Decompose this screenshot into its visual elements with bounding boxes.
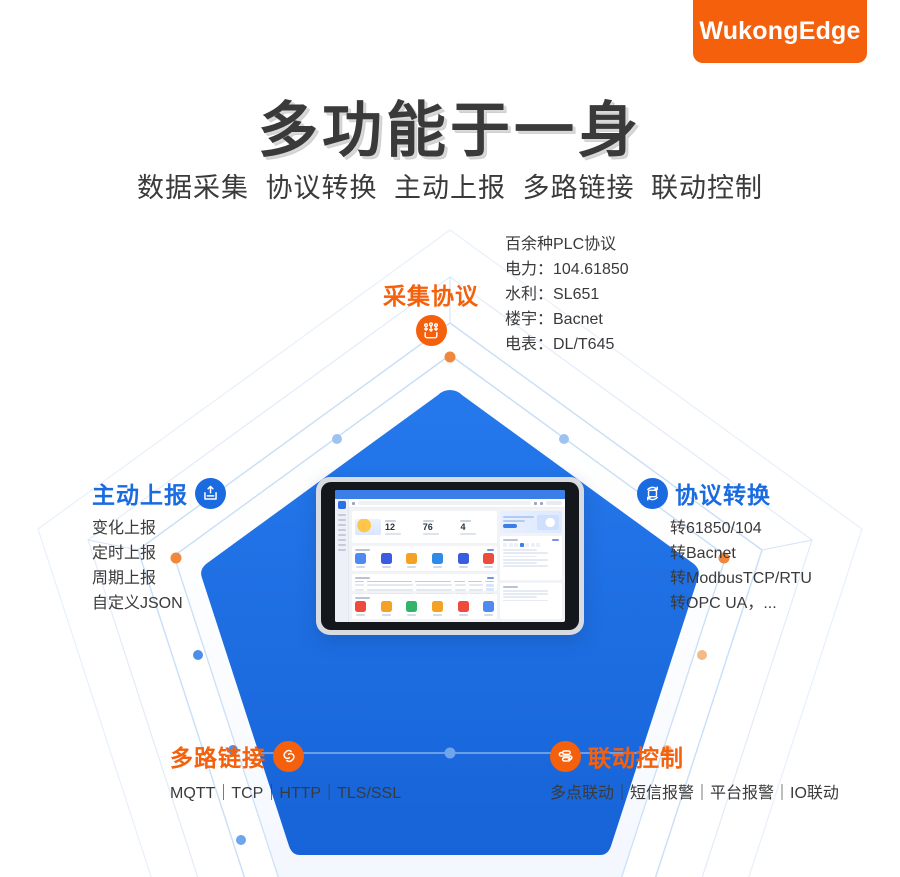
sidebar-item[interactable] [338, 549, 346, 551]
feature-collect-line-4: 电表：DL/T645 [505, 332, 629, 357]
kpi-item: 12 [385, 520, 419, 535]
shortcut-item[interactable] [458, 553, 469, 568]
shortcut-item[interactable] [483, 553, 494, 568]
feature-report-line-0: 变化上报 [92, 516, 226, 541]
shortcut-card [352, 546, 497, 571]
shortcut-item[interactable] [406, 553, 417, 568]
feature-multilink: 多路链接 MQTT｜TCP｜HTTP｜TLS/SSL [170, 739, 401, 803]
section-title [503, 586, 518, 588]
section-header [355, 549, 494, 551]
protocol-convert-icon [637, 478, 668, 509]
data-collect-icon [416, 315, 447, 346]
tool-item[interactable] [432, 601, 443, 616]
feature-collect: 采集协议 [383, 277, 479, 346]
screen-topbar [335, 490, 565, 499]
kpi-caption [460, 533, 476, 535]
dashboard-toolbar [349, 499, 565, 508]
calendar-day[interactable] [525, 543, 529, 547]
event-line [503, 565, 548, 567]
calendar-day[interactable] [531, 543, 535, 547]
promo-banner[interactable] [500, 511, 562, 533]
tablet-bezel: 12 76 [321, 482, 579, 630]
tool-label [459, 614, 468, 616]
column-header [367, 581, 412, 583]
notice-line [503, 593, 548, 595]
row-action[interactable] [486, 584, 494, 587]
event-line [503, 552, 548, 554]
dashboard-left-column: 12 76 [352, 511, 497, 619]
feature-report: 主动上报 变化上报 定时上报 周期上报 自定义JSON [92, 476, 226, 616]
column-header [485, 581, 494, 583]
tool-label [484, 614, 493, 616]
section-title [355, 597, 370, 599]
calendar-day[interactable] [509, 543, 513, 547]
feature-report-lines: 变化上报 定时上报 周期上报 自定义JSON [92, 516, 226, 616]
promo-line [503, 520, 525, 522]
feature-convert-line-2: 转ModbusTCP/RTU [670, 566, 812, 591]
notice-card [500, 583, 562, 619]
brand-name: WukongEdge [699, 17, 860, 46]
cell [355, 589, 364, 591]
calendar-day[interactable] [514, 543, 518, 547]
shortcut-item[interactable] [381, 553, 392, 568]
cell [355, 584, 364, 586]
link-chain-icon [273, 741, 304, 772]
section-header [503, 539, 559, 541]
menu-icon[interactable] [352, 502, 355, 505]
feature-convert-header: 协议转换 [637, 476, 812, 510]
page-subtitle: 数据采集 协议转换 主动上报 多路链接 联动控制 [0, 166, 900, 205]
section-more-link[interactable] [552, 539, 559, 541]
kpi-card: 12 76 [352, 511, 497, 543]
brand-badge: WukongEdge [693, 0, 867, 63]
kpi-value: 4 [460, 523, 494, 532]
cell [469, 589, 483, 591]
poster-stage: WukongEdge 多功能于一身 数据采集 协议转换 主动上报 多路链接 联动… [0, 0, 900, 877]
feature-multilink-header: 多路链接 [170, 739, 401, 773]
column-header [355, 581, 364, 583]
feature-linkage-header: 联动控制 [550, 739, 839, 773]
feature-collect-lines: 百余种PLC协议 电力：104.61850 水利：SL651 楼宇：Bacnet… [505, 232, 629, 357]
feature-collect-line-2: 水利：SL651 [505, 282, 629, 307]
app-label [484, 566, 493, 568]
calendar-day[interactable] [503, 543, 507, 547]
sidebar-item[interactable] [338, 524, 346, 526]
feature-convert-line-0: 转61850/104 [670, 516, 812, 541]
dashboard-logo-icon [338, 501, 346, 509]
promo-illustration [537, 515, 559, 530]
event-line [503, 556, 536, 558]
sidebar-item[interactable] [338, 514, 346, 516]
promo-line [503, 516, 534, 518]
app-icon [458, 553, 469, 564]
tool-item[interactable] [355, 601, 366, 616]
bell-icon[interactable] [540, 502, 543, 505]
tool-label [382, 614, 391, 616]
app-icon [381, 553, 392, 564]
sidebar-item[interactable] [338, 529, 346, 531]
tablet-screen: 12 76 [335, 490, 565, 622]
kpi-row: 12 76 [355, 514, 494, 540]
section-more-link[interactable] [487, 577, 494, 579]
section-title [355, 549, 370, 551]
feature-collect-title: 采集协议 [383, 277, 479, 311]
column-header [454, 581, 465, 583]
subtitle-item-1: 协议转换 [265, 173, 377, 203]
feature-convert-line-1: 转Bacnet [670, 541, 812, 566]
feature-report-line-3: 自定义JSON [92, 591, 226, 616]
calendar-card [500, 536, 562, 580]
tool-item[interactable] [381, 601, 392, 616]
section-title [503, 539, 518, 541]
feature-report-title: 主动上报 [92, 476, 188, 510]
feature-convert-line-3: 转OPC UA，... [670, 591, 812, 616]
feature-linkage-items: 多点联动｜短信报警｜平台报警｜IO联动 [550, 779, 839, 803]
section-header [355, 597, 494, 599]
dashboard-right-column [500, 511, 562, 619]
feature-linkage: 联动控制 多点联动｜短信报警｜平台报警｜IO联动 [550, 739, 839, 803]
kpi-item: 76 [423, 520, 457, 535]
edit-icon[interactable] [534, 502, 537, 505]
tool-label [407, 614, 416, 616]
tool-icon [483, 601, 494, 612]
subtitle-item-0: 数据采集 [137, 173, 249, 203]
dashboard-sidebar[interactable] [335, 499, 349, 622]
feature-report-line-1: 定时上报 [92, 541, 226, 566]
subtitle-item-2: 主动上报 [394, 173, 506, 203]
shortcut-grid [355, 553, 494, 568]
calendar-day-selected[interactable] [520, 543, 524, 547]
sidebar-item[interactable] [338, 519, 346, 521]
column-header [468, 581, 482, 583]
feature-report-header: 主动上报 [92, 476, 226, 510]
kpi-value: 12 [385, 523, 419, 532]
feature-convert: 协议转换 转61850/104 转Bacnet 转ModbusTCP/RTU 转… [637, 476, 812, 616]
weather-widget-icon [355, 519, 381, 535]
section-header [355, 577, 494, 579]
tablet-device: 12 76 [316, 477, 584, 635]
cell [416, 589, 453, 591]
tool-item[interactable] [406, 601, 417, 616]
linkage-control-icon [550, 741, 581, 772]
feature-convert-title: 协议转换 [675, 476, 771, 510]
dashboard-main: 12 76 [349, 499, 565, 622]
section-more-link[interactable] [487, 549, 494, 551]
cell [367, 589, 413, 591]
app-label [407, 566, 416, 568]
sidebar-item[interactable] [338, 544, 346, 546]
section-header [503, 586, 559, 588]
shortcut-item[interactable] [432, 553, 443, 568]
cell [416, 584, 453, 586]
app-icon [483, 553, 494, 564]
app-icon [406, 553, 417, 564]
cell [469, 584, 483, 586]
feature-collect-line-3: 楼宇：Bacnet [505, 307, 629, 332]
user-account[interactable] [546, 501, 562, 505]
feature-multilink-title: 多路链接 [170, 739, 266, 773]
feature-report-line-2: 周期上报 [92, 566, 226, 591]
subtitle-item-4: 联动控制 [651, 173, 763, 203]
feature-collect-line-0: 百余种PLC协议 [505, 232, 629, 257]
kpi-caption [423, 533, 439, 535]
promo-button[interactable] [503, 524, 517, 528]
table-row[interactable] [355, 584, 494, 587]
tool-icon [406, 601, 417, 612]
feature-collect-header: 采集协议 [383, 277, 479, 346]
tool-icon [432, 601, 443, 612]
app-label [382, 566, 391, 568]
table-header-row [355, 581, 494, 583]
tool-label [433, 614, 442, 616]
sidebar-item[interactable] [338, 534, 346, 536]
event-line [503, 549, 536, 551]
feature-multilink-protocols: MQTT｜TCP｜HTTP｜TLS/SSL [170, 779, 401, 803]
tool-icon [381, 601, 392, 612]
feature-linkage-title: 联动控制 [588, 739, 684, 773]
app-label [356, 566, 365, 568]
cell [455, 589, 466, 591]
shortcut-item[interactable] [355, 553, 366, 568]
cell [367, 584, 413, 586]
cell [455, 584, 466, 586]
tool-icon [355, 601, 366, 612]
notice-line [503, 600, 548, 602]
app-label [459, 566, 468, 568]
feature-collect-line-1: 电力：104.61850 [505, 257, 629, 282]
notice-line [503, 590, 548, 592]
promo-text [503, 516, 534, 528]
tool-item[interactable] [458, 601, 469, 616]
data-table [355, 581, 494, 589]
app-label [433, 566, 442, 568]
tool-label [356, 614, 365, 616]
search-input[interactable] [358, 501, 531, 505]
upload-icon [195, 478, 226, 509]
tools-grid [355, 601, 494, 616]
tool-icon [458, 601, 469, 612]
kpi-value: 76 [423, 523, 457, 532]
notice-line [503, 596, 536, 598]
sidebar-item[interactable] [338, 539, 346, 541]
page-title: 多功能于一身 [0, 82, 900, 169]
table-row[interactable] [355, 588, 494, 591]
tools-card [352, 594, 497, 619]
calendar-day[interactable] [536, 543, 540, 547]
dashboard-content: 12 76 [349, 508, 565, 622]
event-line [503, 562, 536, 564]
feature-convert-lines: 转61850/104 转Bacnet 转ModbusTCP/RTU 转OPC U… [670, 516, 812, 616]
subtitle-item-3: 多路链接 [523, 173, 635, 203]
column-header [415, 581, 451, 583]
section-title [355, 577, 370, 579]
kpi-caption [385, 533, 401, 535]
app-icon [355, 553, 366, 564]
device-table-card [352, 574, 497, 592]
tool-item[interactable] [483, 601, 494, 616]
row-action[interactable] [486, 588, 494, 591]
calendar-strip[interactable] [503, 543, 559, 547]
kpi-item: 4 [460, 520, 494, 535]
event-line [503, 559, 548, 561]
screen-body: 12 76 [335, 499, 565, 622]
app-icon [432, 553, 443, 564]
